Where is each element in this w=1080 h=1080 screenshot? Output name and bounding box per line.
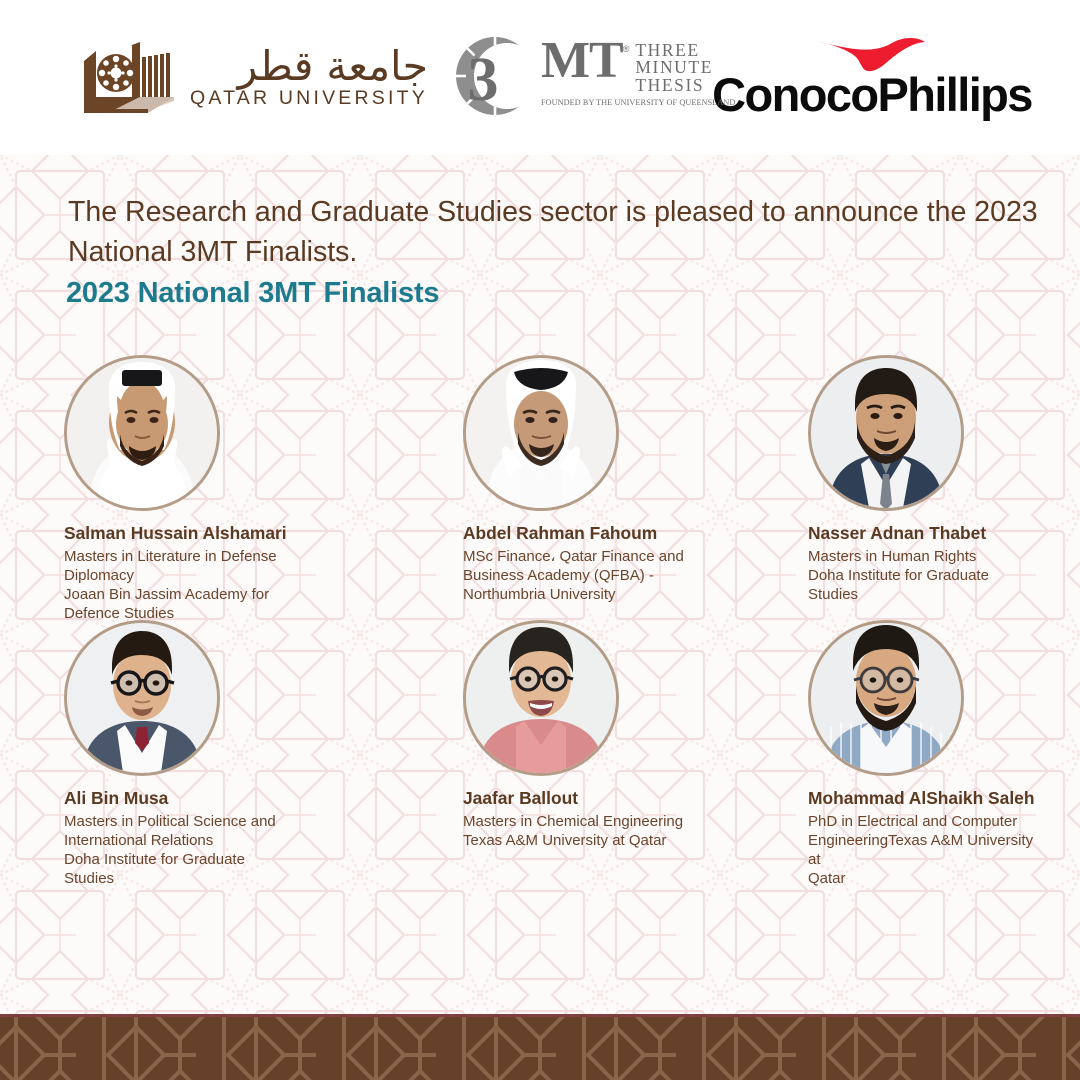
conocophillips-logo: ConocoPhillips — [722, 37, 1022, 118]
finalist-desc-line: Studies — [64, 869, 276, 888]
qatar-university-arabic: جامعة قطر — [237, 46, 427, 87]
finalist-desc-line: Joaan Bin Jassim Academy for Defence Stu… — [64, 585, 296, 623]
three-minute-thesis-wordmark: MT ® THREE MINUTE THESIS FOUNDED BY THE … — [541, 34, 735, 108]
finalist-desc-line: Masters in Political Science and — [64, 812, 276, 831]
three-minute-thesis-logo: 3 MT ® THREE MINUTE THESIS FOUNDED BY TH… — [453, 34, 697, 122]
footer-star-pattern-icon — [0, 1014, 1080, 1080]
finalist-desc-line: Masters in Human Rights — [808, 547, 1040, 566]
finalist-description: MSc Finance، Qatar Finance and Business … — [463, 547, 684, 604]
svg-text:3: 3 — [467, 46, 498, 114]
finalist-desc-line: Texas A&M University at Qatar — [463, 831, 683, 850]
finalist-description: Masters in Human Rights Doha Institute f… — [808, 547, 1040, 604]
clock-dial-icon: 3 — [453, 34, 537, 118]
finalist-card[interactable]: Salman Hussain Alshamari Masters in Lite… — [64, 355, 296, 623]
finalist-card[interactable]: Jaafar Ballout Masters in Chemical Engin… — [463, 620, 683, 850]
portrait-mohammad-alshaikh-saleh-icon — [811, 623, 961, 773]
avatar — [463, 355, 619, 511]
finalist-description: PhD in Electrical and Computer Engineeri… — [808, 812, 1040, 888]
finalist-desc-line: EngineeringTexas A&M University at — [808, 831, 1040, 869]
conocophillips-wordmark: ConocoPhillips — [712, 71, 1032, 118]
finalist-description: Masters in Political Science and Interna… — [64, 812, 276, 888]
qatar-university-wordmark: جامعة قطر QATAR UNIVERSITY — [190, 46, 428, 109]
header-logo-bar: جامعة قطر QATAR UNIVERSITY 3 — [0, 0, 1080, 155]
avatar — [808, 620, 964, 776]
finalist-name: Abdel Rahman Fahoum — [463, 523, 684, 544]
portrait-abdel-rahman-fahoum-icon — [466, 358, 616, 508]
finalist-desc-line: Qatar — [808, 869, 1040, 888]
mt-letters: MT — [541, 40, 623, 83]
footer-pattern-bar — [0, 1014, 1080, 1080]
poster: جامعة قطر QATAR UNIVERSITY 3 — [0, 0, 1080, 1080]
finalist-name: Jaafar Ballout — [463, 788, 683, 809]
finalist-card[interactable]: Ali Bin Musa Masters in Political Scienc… — [64, 620, 276, 888]
finalist-desc-line: Masters in Chemical Engineering — [463, 812, 683, 831]
portrait-ali-bin-musa-icon — [67, 623, 217, 773]
portrait-jaafar-ballout-icon — [466, 623, 616, 773]
finalist-description: Masters in Literature in Defense Diploma… — [64, 547, 296, 623]
avatar — [64, 620, 220, 776]
avatar — [463, 620, 619, 776]
finalist-card[interactable]: Abdel Rahman Fahoum MSc Finance، Qatar F… — [463, 355, 684, 604]
finalist-name: Ali Bin Musa — [64, 788, 276, 809]
finalist-desc-line: PhD in Electrical and Computer — [808, 812, 1040, 831]
registered-mark-icon: ® — [623, 44, 630, 54]
finalist-card[interactable]: Nasser Adnan Thabet Masters in Human Rig… — [808, 355, 1040, 604]
avatar — [64, 355, 220, 511]
finalist-desc-line: International Relations — [64, 831, 276, 850]
mt-founded-by: FOUNDED BY THE UNIVERSITY OF QUEENSLAND — [541, 98, 735, 107]
finalist-name: Nasser Adnan Thabet — [808, 523, 1040, 544]
mt-line-thesis: THESIS — [635, 77, 713, 95]
finalist-description: Masters in Chemical Engineering Texas A&… — [463, 812, 683, 850]
finalist-desc-line: Business Academy (QFBA) - — [463, 566, 684, 585]
qatar-university-logo: جامعة قطر QATAR UNIVERSITY — [70, 39, 428, 117]
finalist-desc-line: MSc Finance، Qatar Finance and — [463, 547, 684, 566]
finalists-grid: Salman Hussain Alshamari Masters in Lite… — [0, 0, 1080, 1080]
qatar-university-english: QATAR UNIVERSITY — [190, 89, 428, 109]
finalist-card[interactable]: Mohammad AlShaikh Saleh PhD in Electrica… — [808, 620, 1040, 888]
finalist-name: Mohammad AlShaikh Saleh — [808, 788, 1040, 809]
finalist-desc-line: Northumbria University — [463, 585, 684, 604]
finalist-desc-line: Doha Institute for Graduate Studies — [808, 566, 1040, 604]
portrait-nasser-adnan-thabet-icon — [811, 358, 961, 508]
finalist-desc-line: Doha Institute for Graduate — [64, 850, 276, 869]
qatar-university-emblem-icon — [70, 39, 174, 117]
avatar — [808, 355, 964, 511]
finalist-name: Salman Hussain Alshamari — [64, 523, 296, 544]
finalist-desc-line: Masters in Literature in Defense Diploma… — [64, 547, 296, 585]
portrait-salman-hussain-alshamari-icon — [67, 358, 217, 508]
